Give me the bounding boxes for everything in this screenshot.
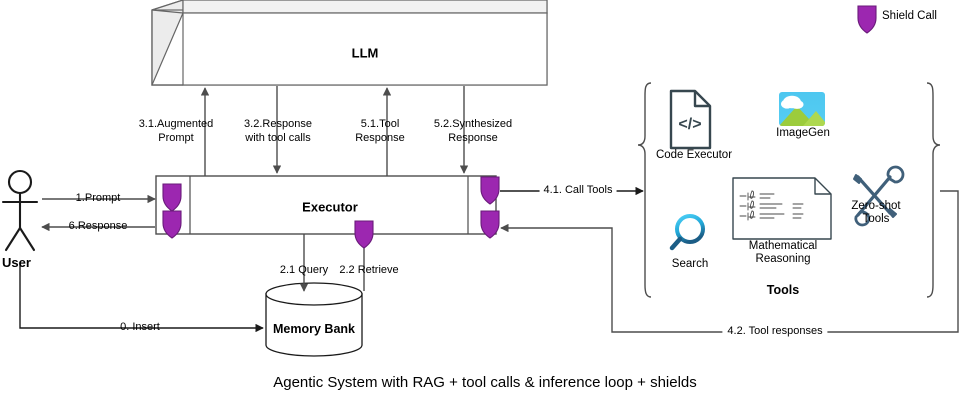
edge-5-2-label-line2: Response [448, 132, 498, 145]
edge-3-2-label-line2: with tool calls [245, 132, 310, 145]
diagram-caption: Agentic System with RAG + tool calls & i… [273, 374, 697, 391]
tool-label-code-executor: Code Executor [656, 149, 732, 162]
tool-label-math-reasoning-line2: Reasoning [756, 253, 811, 266]
tool-label-imagegen: ImageGen [776, 127, 830, 140]
edge-0-insert-line [20, 262, 263, 328]
user-actor [3, 171, 37, 250]
edge-5-1-label-line1: 5.1.Tool [361, 118, 400, 131]
edge-5-2-label-line1: 5.2.Synthesized [434, 118, 512, 131]
edge-4-1-call-tools-label: 4.1. Call Tools [540, 184, 617, 197]
tool-label-search: Search [672, 258, 708, 271]
shield-executor-bottom-center [355, 221, 373, 248]
tool-label-zero-shot-line2: Tools [863, 213, 890, 226]
edge-4-2-tool-responses-label: 4.2. Tool responses [722, 325, 827, 338]
tool-label-zero-shot-line1: Zero-shot [851, 200, 900, 213]
tool-label-math-reasoning-line1: Mathematical [749, 240, 817, 253]
legend-shield-call-label: Shield Call [882, 10, 937, 22]
edge-2-2-retrieve-label: 2.2 Retrieve [339, 264, 398, 277]
magnifier-icon [672, 216, 703, 248]
svg-text:</>: </> [678, 116, 701, 133]
user-label: User [2, 256, 31, 269]
executor-label: Executor [302, 200, 358, 215]
edge-3-2-label-line1: 3.2.Response [244, 118, 312, 131]
llm-node [152, 0, 547, 85]
edge-5-1-label-line2: Response [355, 132, 405, 145]
shield-legend-icon [858, 6, 876, 33]
formula-document-icon [733, 178, 831, 239]
diagram-canvas: </> [0, 0, 970, 411]
diagram-shapes-layer: </> [0, 0, 970, 411]
edge-6-response-label: 6.Response [69, 220, 128, 233]
edge-3-1-label-line1: 3.1.Augmented [139, 118, 214, 131]
memory-bank-label: Memory Bank [273, 322, 355, 336]
image-picture-icon [779, 92, 825, 126]
llm-label: LLM [352, 46, 379, 61]
edge-1-prompt-label: 1.Prompt [76, 192, 121, 205]
code-document-icon: </> [671, 91, 710, 148]
tools-group-caption: Tools [767, 283, 799, 297]
edge-2-1-query-label: 2.1 Query [280, 264, 328, 277]
memory-bank-node [266, 283, 362, 356]
edge-0-insert-label: 0. Insert [120, 321, 160, 334]
edge-3-1-label-line2: Prompt [158, 132, 193, 145]
